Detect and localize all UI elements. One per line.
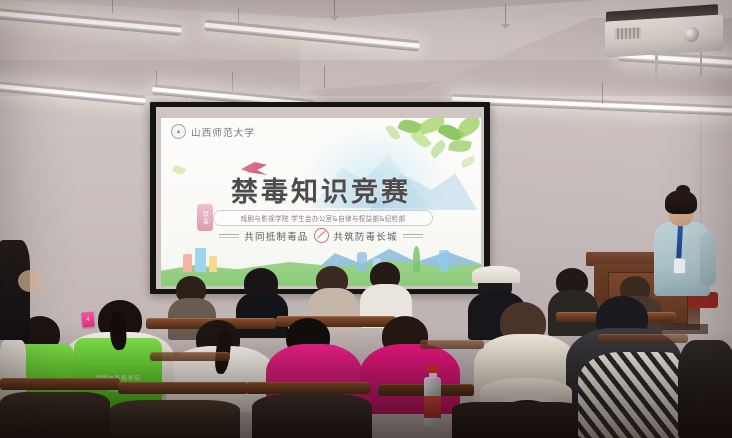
slide-building	[357, 252, 367, 272]
slogan-rule	[403, 234, 423, 238]
bottle-cap	[427, 366, 438, 373]
slide-building	[439, 250, 449, 272]
slogan-right: 共筑防毒长城	[334, 229, 398, 243]
projector-vent	[615, 27, 641, 39]
bench-mid	[598, 334, 688, 343]
bottle-label	[424, 396, 441, 418]
slide-building	[195, 248, 206, 272]
hand	[18, 270, 42, 292]
slide-building	[183, 254, 192, 272]
bench-mid	[150, 352, 230, 361]
school-crest-icon: ▲	[171, 124, 186, 139]
projector-pole	[700, 52, 702, 76]
white-cap	[472, 266, 520, 283]
audience-body-magenta	[360, 344, 460, 414]
slide-subtitle: 戏剧与影视学院 学生会办公室&自律与权益部&纪检部	[241, 213, 406, 223]
audience-body	[236, 292, 288, 338]
leaf-icon	[448, 139, 471, 154]
slide-building	[209, 256, 217, 272]
light-wire	[232, 72, 233, 92]
front-shoulder-left	[252, 394, 372, 438]
light-wire	[505, 4, 506, 26]
seat-number-card[interactable]: 4	[81, 312, 94, 328]
bench-front	[118, 382, 248, 394]
bench-mid	[420, 340, 484, 349]
presentation-slide: ▲ 山西师范大学 禁毒知识竞赛 禁毒 戏剧与影视学院 学生会办公室&自律与权益部…	[161, 118, 481, 286]
front-shoulder-far-left	[0, 392, 110, 438]
light-wire	[324, 66, 325, 88]
front-person-dark	[678, 340, 732, 438]
front-shoulder-left2	[110, 400, 240, 438]
slide-slogan-row: 共同抵制毒品 共筑防毒长城	[161, 228, 481, 243]
bench-front	[0, 378, 120, 390]
presenter-hair-bun	[676, 185, 690, 196]
water-bottle[interactable]	[424, 366, 441, 426]
front-shoulder	[452, 402, 582, 438]
slogan-rule	[219, 234, 239, 238]
light-wire	[112, 0, 113, 14]
projector-pole	[655, 52, 658, 84]
no-drugs-icon	[314, 228, 329, 243]
light-wire	[602, 82, 603, 104]
light-wire	[238, 8, 239, 24]
slide-seal: 禁毒	[197, 204, 213, 231]
light-wire	[334, 0, 335, 18]
slogan-left: 共同抵制毒品	[244, 229, 308, 243]
presenter-id-badge	[673, 258, 686, 274]
leaf-icon	[460, 156, 476, 168]
slide-tree	[413, 246, 420, 272]
university-name: 山西师范大学	[191, 125, 255, 139]
bench-front	[246, 382, 370, 394]
presenter-arm	[700, 232, 716, 286]
slide-subtitle-pill: 戏剧与影视学院 学生会办公室&自律与权益部&纪检部	[213, 210, 433, 226]
university-logo: ▲ 山西师范大学	[171, 124, 255, 139]
lecture-hall-photo: ▲ 山西师范大学 禁毒知识竞赛 禁毒 戏剧与影视学院 学生会办公室&自律与权益部…	[0, 0, 732, 438]
